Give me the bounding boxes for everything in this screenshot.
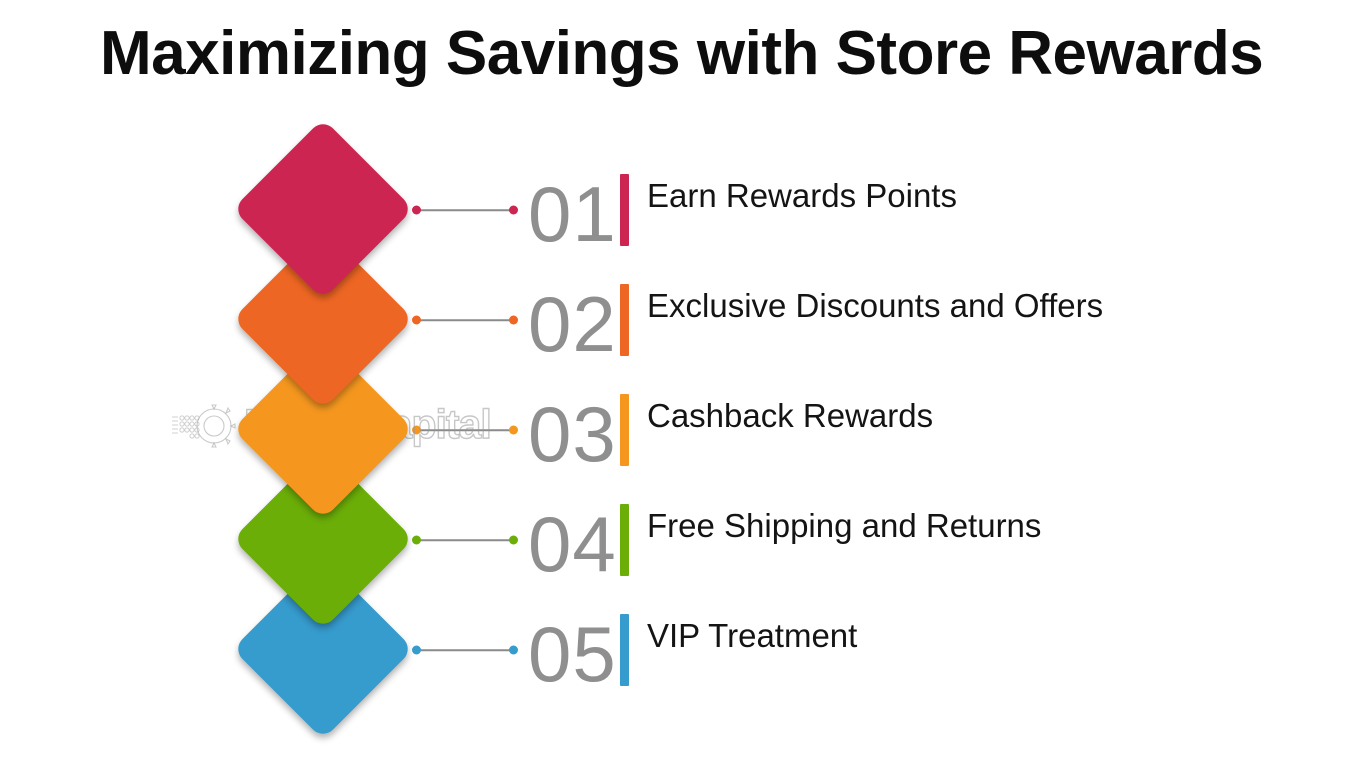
- step-row[interactable]: 01Earn Rewards Points: [412, 160, 957, 260]
- connector-line-icon: [412, 203, 518, 217]
- step-label: Earn Rewards Points: [647, 178, 957, 214]
- diamond-stack: [232, 118, 432, 758]
- step-label: VIP Treatment: [647, 618, 857, 654]
- connector-line-icon: [412, 423, 518, 437]
- diamond-shape-01[interactable]: [232, 118, 414, 300]
- connector-line-icon: [412, 313, 518, 327]
- step-number: 04: [528, 505, 618, 583]
- connector-dot-right: [509, 316, 518, 325]
- connector-line: [418, 209, 512, 211]
- step-number: 02: [528, 285, 618, 363]
- step-accent-bar: [620, 394, 629, 466]
- connector-dot-right: [509, 206, 518, 215]
- connector-line: [418, 319, 512, 321]
- step-row[interactable]: 04Free Shipping and Returns: [412, 490, 1041, 590]
- step-label: Exclusive Discounts and Offers: [647, 288, 1103, 324]
- step-number: 05: [528, 615, 618, 693]
- connector-line-icon: [412, 533, 518, 547]
- step-label: Cashback Rewards: [647, 398, 933, 434]
- step-accent-bar: [620, 614, 629, 686]
- connector-dot-right: [509, 646, 518, 655]
- connector-line: [418, 429, 512, 431]
- connector-line: [418, 539, 512, 541]
- connector-dot-right: [509, 536, 518, 545]
- step-row[interactable]: 05VIP Treatment: [412, 600, 857, 700]
- step-number: 01: [528, 175, 618, 253]
- connector-dot-right: [509, 426, 518, 435]
- step-label: Free Shipping and Returns: [647, 508, 1041, 544]
- connector-line: [418, 649, 512, 651]
- connector-line-icon: [412, 643, 518, 657]
- infographic-slide: Maximizing Savings with Store Rewards 01…: [0, 0, 1350, 769]
- step-row[interactable]: 03Cashback Rewards: [412, 380, 933, 480]
- diamond-shape-icon: [232, 118, 413, 299]
- step-accent-bar: [620, 284, 629, 356]
- step-accent-bar: [620, 504, 629, 576]
- step-number: 03: [528, 395, 618, 473]
- page-title: Maximizing Savings with Store Rewards: [100, 17, 1250, 91]
- step-row[interactable]: 02Exclusive Discounts and Offers: [412, 270, 1103, 370]
- gear-dots-logo-icon: [170, 404, 240, 448]
- step-accent-bar: [620, 174, 629, 246]
